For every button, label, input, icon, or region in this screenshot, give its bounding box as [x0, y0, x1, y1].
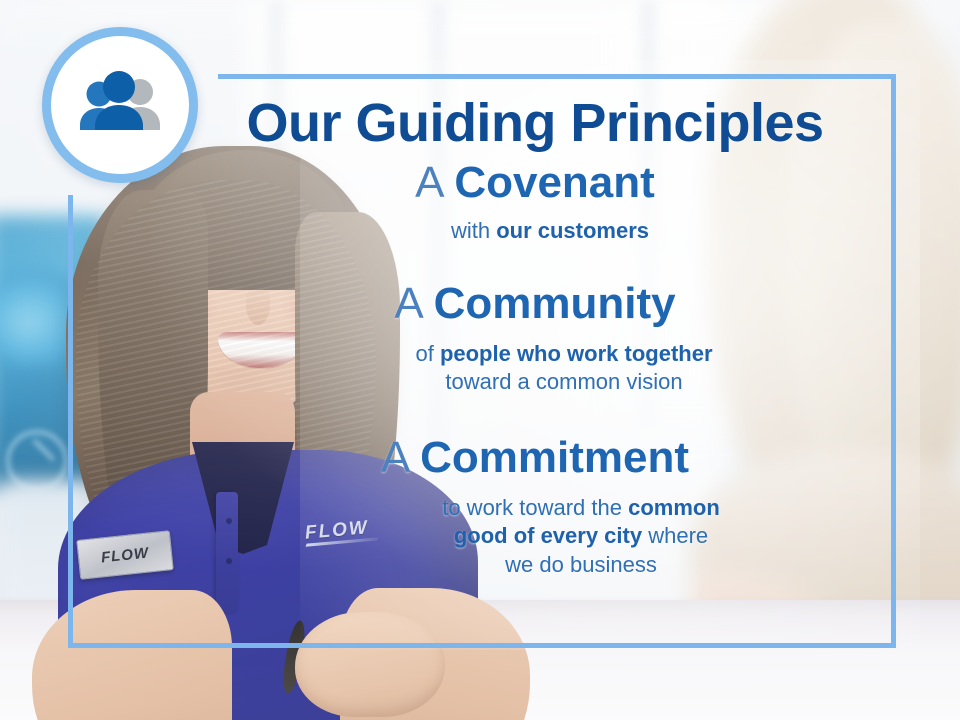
principle-commitment-heading: A Commitment — [190, 435, 880, 482]
people-group-badge — [42, 27, 198, 183]
principle-covenant: A Covenant with our customers — [190, 160, 880, 245]
principle-covenant-article: A — [415, 158, 442, 207]
text-content: Our Guiding Principles A Covenant with o… — [190, 82, 880, 642]
principle-community: A Community of people who work togethert… — [190, 281, 880, 397]
principle-commitment-subtext: to work toward the commongood of every c… — [190, 494, 880, 580]
principle-community-subtext: of people who work togethertoward a comm… — [190, 340, 880, 397]
principle-covenant-subtext: with our customers — [190, 217, 880, 246]
principle-community-word: Community — [434, 279, 676, 328]
principle-commitment-article: A — [381, 433, 408, 482]
principle-covenant-heading: A Covenant — [190, 160, 880, 207]
principle-commitment-word: Commitment — [420, 433, 689, 482]
principle-community-article: A — [394, 279, 421, 328]
name-badge-text: FLOW — [100, 544, 150, 566]
principle-community-heading: A Community — [190, 281, 880, 328]
principle-covenant-word: Covenant — [454, 158, 654, 207]
guiding-principles-banner: FLOW FLOW — [0, 0, 960, 720]
principle-commitment: A Commitment to work toward the commongo… — [190, 435, 880, 579]
page-title: Our Guiding Principles — [190, 96, 880, 150]
people-group-icon — [72, 70, 168, 140]
